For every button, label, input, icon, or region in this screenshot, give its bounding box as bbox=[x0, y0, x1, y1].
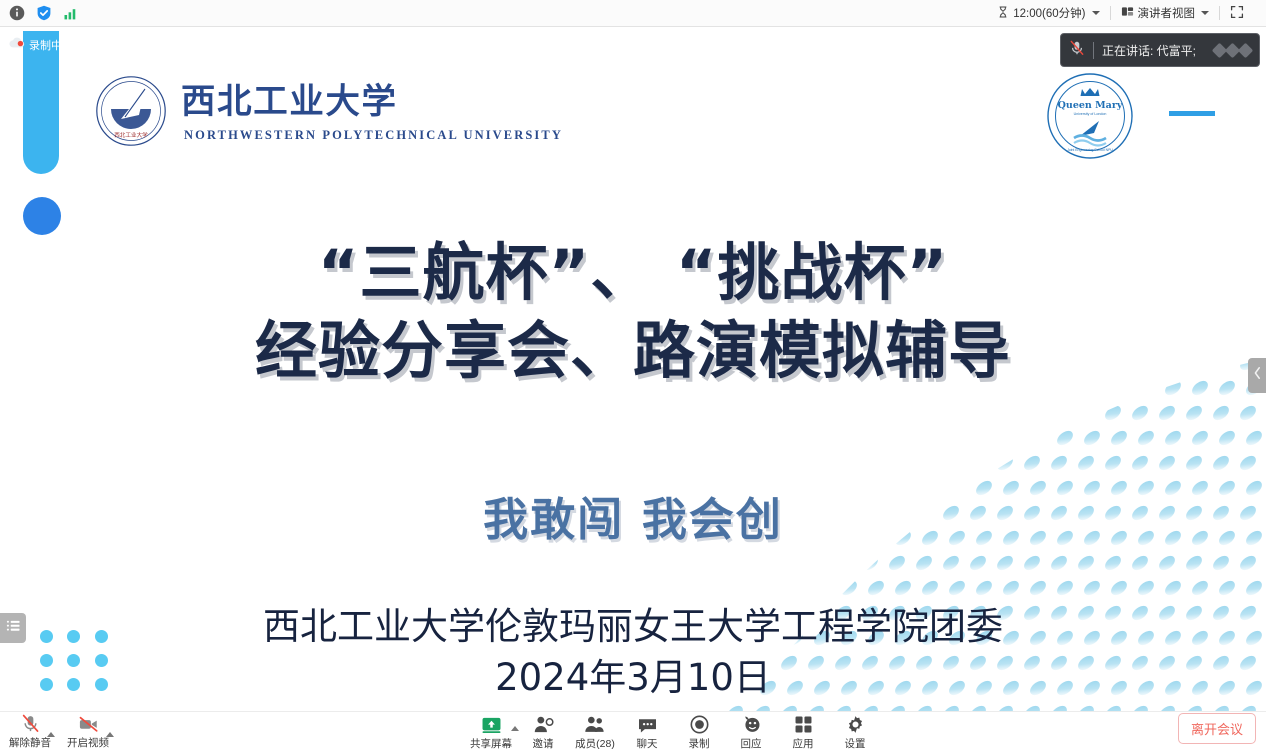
grid-dot bbox=[40, 654, 53, 667]
grid-dot bbox=[40, 678, 53, 691]
grid-dot bbox=[67, 678, 80, 691]
chevron-left-icon bbox=[1253, 366, 1262, 385]
cloud-recording-icon bbox=[8, 36, 26, 54]
invite-person-icon bbox=[533, 714, 554, 734]
participants-icon bbox=[584, 714, 606, 734]
gear-icon bbox=[846, 714, 865, 734]
svg-text:西北工业大学: 西北工业大学 bbox=[181, 82, 398, 122]
dot-grid-decoration bbox=[33, 624, 115, 696]
recording-indicator[interactable]: 录制中 bbox=[8, 36, 62, 54]
chat-label: 聊天 bbox=[637, 736, 658, 751]
self-video-bubble[interactable] bbox=[23, 197, 61, 235]
reactions-label: 回应 bbox=[741, 736, 762, 751]
divider bbox=[1093, 42, 1094, 59]
hourglass-icon bbox=[997, 6, 1009, 21]
npu-chinese-calligraphy: 西北工业大学 bbox=[181, 79, 439, 125]
invite-button[interactable]: 邀请 bbox=[517, 714, 569, 751]
svg-text:University of London: University of London bbox=[1074, 112, 1107, 116]
settings-button[interactable]: 设置 bbox=[829, 714, 881, 751]
video-options-caret-icon[interactable] bbox=[106, 732, 114, 737]
reaction-emoji-icon bbox=[741, 714, 762, 734]
svg-text:西北工业大学: 西北工业大学 bbox=[114, 131, 148, 139]
unmute-label: 解除静音 bbox=[9, 735, 51, 750]
share-screen-button[interactable]: 共享屏幕 bbox=[465, 714, 517, 751]
top-bar-right-group: 12:00(60分钟) 演讲者视图 bbox=[987, 5, 1266, 22]
audio-options-caret-icon[interactable] bbox=[47, 732, 55, 737]
recording-label: 录制中 bbox=[29, 37, 62, 53]
mic-muted-icon bbox=[21, 713, 40, 733]
reactions-button[interactable]: 回应 bbox=[725, 714, 777, 751]
active-speaker-text: 正在讲话: 代富平; bbox=[1102, 42, 1196, 59]
info-icon[interactable] bbox=[9, 5, 25, 21]
list-icon bbox=[6, 619, 21, 637]
audio-wave-icon bbox=[1214, 45, 1251, 56]
slide-organizer-and-date: 西北工业大学伦敦玛丽女王大学工程学院团委 2024年3月10日 bbox=[0, 601, 1266, 703]
meeting-toolbar: 解除静音 开启视频 共享屏幕 bbox=[0, 711, 1266, 751]
apps-button[interactable]: 应用 bbox=[777, 714, 829, 751]
apps-grid-icon bbox=[794, 714, 813, 734]
fullscreen-button[interactable] bbox=[1220, 5, 1254, 22]
slide-slogan: 我敢闯 我会创 bbox=[0, 483, 1266, 548]
share-screen-icon bbox=[481, 714, 502, 734]
fullscreen-icon bbox=[1230, 5, 1244, 22]
grid-dot bbox=[95, 654, 108, 667]
svg-text:Queen Mary: Queen Mary bbox=[1058, 100, 1123, 111]
npu-wordmark: 西北工业大学 NORTHWESTERN POLYTECHNICAL UNIVER… bbox=[181, 79, 563, 143]
mic-muted-icon bbox=[1069, 40, 1085, 61]
center-controls: 共享屏幕 邀请 成员(28) bbox=[465, 714, 881, 751]
camera-muted-icon bbox=[78, 713, 99, 733]
chat-button[interactable]: 聊天 bbox=[621, 714, 673, 751]
layout-view-icon bbox=[1121, 5, 1134, 21]
shared-screen-slide: 西北工业大学 西北工业大学 NORTHWESTERN POLYTECHNICAL… bbox=[0, 27, 1266, 711]
accent-rule bbox=[1169, 111, 1215, 116]
queen-mary-logo: Queen Mary University of London Joint En… bbox=[1046, 72, 1134, 160]
chevron-down-icon[interactable] bbox=[1092, 11, 1100, 15]
record-button[interactable]: 录制 bbox=[673, 714, 725, 751]
npu-logo: 西北工业大学 西北工业大学 NORTHWESTERN POLYTECHNICAL… bbox=[95, 75, 563, 147]
shield-secure-icon[interactable] bbox=[36, 5, 52, 21]
share-screen-label: 共享屏幕 bbox=[470, 736, 512, 751]
npu-seal-icon: 西北工业大学 bbox=[95, 75, 167, 147]
apps-label: 应用 bbox=[793, 736, 814, 751]
meeting-timer[interactable]: 12:00(60分钟) bbox=[987, 5, 1109, 21]
slide-title: “三航杯”、 “挑战杯” 经验分享会、路演模拟辅导 bbox=[0, 234, 1266, 390]
layout-view-label: 演讲者视图 bbox=[1138, 5, 1196, 21]
settings-label: 设置 bbox=[845, 736, 866, 751]
layout-view-selector[interactable]: 演讲者视图 bbox=[1111, 5, 1220, 21]
grid-dot bbox=[95, 630, 108, 643]
network-signal-icon[interactable] bbox=[63, 5, 79, 21]
grid-dot bbox=[67, 630, 80, 643]
invite-label: 邀请 bbox=[533, 736, 554, 751]
side-panel-collapse-button[interactable] bbox=[1248, 358, 1266, 393]
grid-dot bbox=[67, 654, 80, 667]
participants-label: 成员(28) bbox=[575, 736, 615, 751]
grid-dot bbox=[40, 630, 53, 643]
start-video-label: 开启视频 bbox=[67, 735, 109, 750]
svg-text:Joint Engineering School NPU: Joint Engineering School NPU bbox=[1067, 148, 1113, 152]
top-bar: 12:00(60分钟) 演讲者视图 bbox=[0, 0, 1266, 27]
record-label: 录制 bbox=[689, 736, 710, 751]
agenda-list-button[interactable] bbox=[0, 613, 26, 643]
chat-bubble-icon bbox=[637, 714, 658, 734]
participants-button[interactable]: 成员(28) bbox=[569, 714, 621, 751]
grid-dot bbox=[95, 678, 108, 691]
chevron-down-icon[interactable] bbox=[1201, 11, 1209, 15]
record-circle-icon bbox=[690, 714, 709, 734]
meeting-timer-label: 12:00(60分钟) bbox=[1013, 5, 1085, 21]
top-bar-left-icons bbox=[0, 5, 79, 21]
leave-meeting-button[interactable]: 离开会议 bbox=[1178, 713, 1256, 744]
npu-english-name: NORTHWESTERN POLYTECHNICAL UNIVERSITY bbox=[181, 128, 563, 143]
active-speaker-toast: 正在讲话: 代富平; bbox=[1060, 33, 1260, 67]
